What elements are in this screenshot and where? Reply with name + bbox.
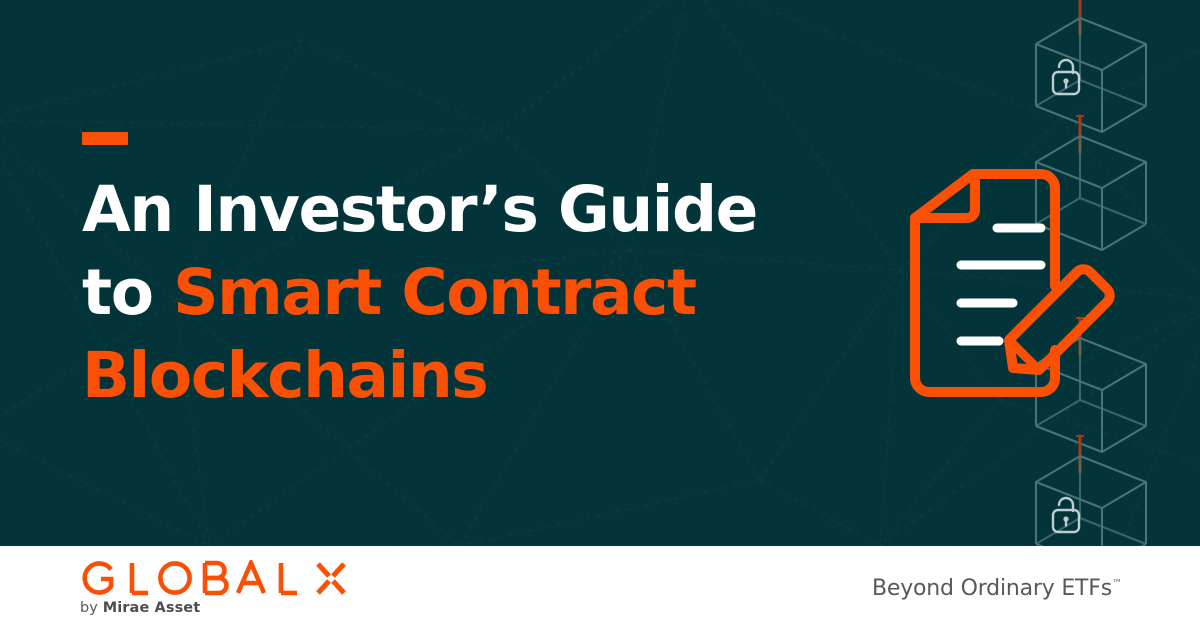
headline-line-1: An Investor’s Guide — [82, 173, 757, 246]
byline-brand: Mirae Asset — [103, 600, 201, 616]
tagline: Beyond Ordinary ETFs™ — [872, 576, 1122, 601]
tagline-text: Beyond Ordinary ETFs — [872, 576, 1112, 601]
social-share-card: An Investor’s Guideto Smart ContractBloc… — [0, 0, 1200, 630]
headline-line-2-accent: Smart Contract — [173, 256, 696, 329]
byline-prefix: by — [80, 600, 103, 616]
headline-line-3-accent: Blockchains — [82, 339, 487, 412]
accent-dash — [82, 132, 128, 145]
footer-bar: by Mirae Asset Beyond Ordinary ETFs™ — [0, 546, 1200, 630]
headline-line-2-white: to — [82, 256, 173, 329]
hero-section: An Investor’s Guideto Smart ContractBloc… — [0, 0, 1200, 546]
cube-4 — [1036, 436, 1146, 546]
global-x-logo — [78, 560, 346, 596]
cube-1 — [1036, 0, 1146, 132]
x-mark-icon — [318, 564, 344, 593]
document-with-pencil-icon — [845, 160, 1135, 420]
trademark-symbol: ™ — [1112, 578, 1122, 589]
brand-byline: by Mirae Asset — [80, 600, 346, 616]
brand-lockup: by Mirae Asset — [78, 560, 346, 616]
title-block: An Investor’s Guideto Smart ContractBloc… — [82, 132, 782, 417]
page-title: An Investor’s Guideto Smart ContractBloc… — [82, 168, 782, 417]
